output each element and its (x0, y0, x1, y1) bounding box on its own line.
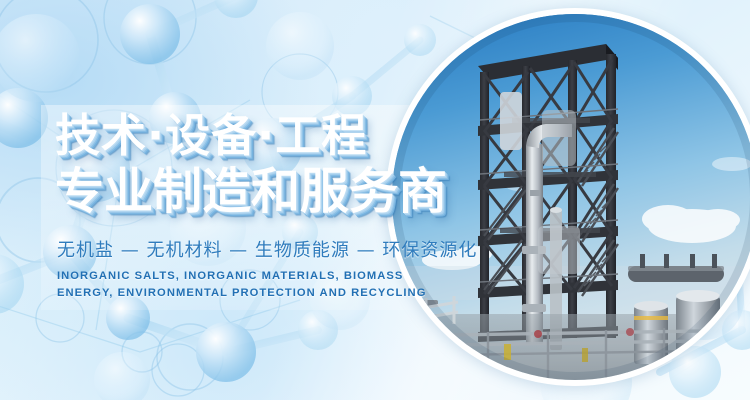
text-overlay-panel (41, 105, 441, 310)
photo-circle (392, 14, 750, 380)
hero-banner: 技术·设备·工程 专业制造和服务商 无机盐 — 无机材料 — 生物质能源 — 环… (0, 0, 750, 400)
photo-circle-ring (386, 8, 750, 386)
factory-tower-photo-icon (392, 14, 750, 380)
